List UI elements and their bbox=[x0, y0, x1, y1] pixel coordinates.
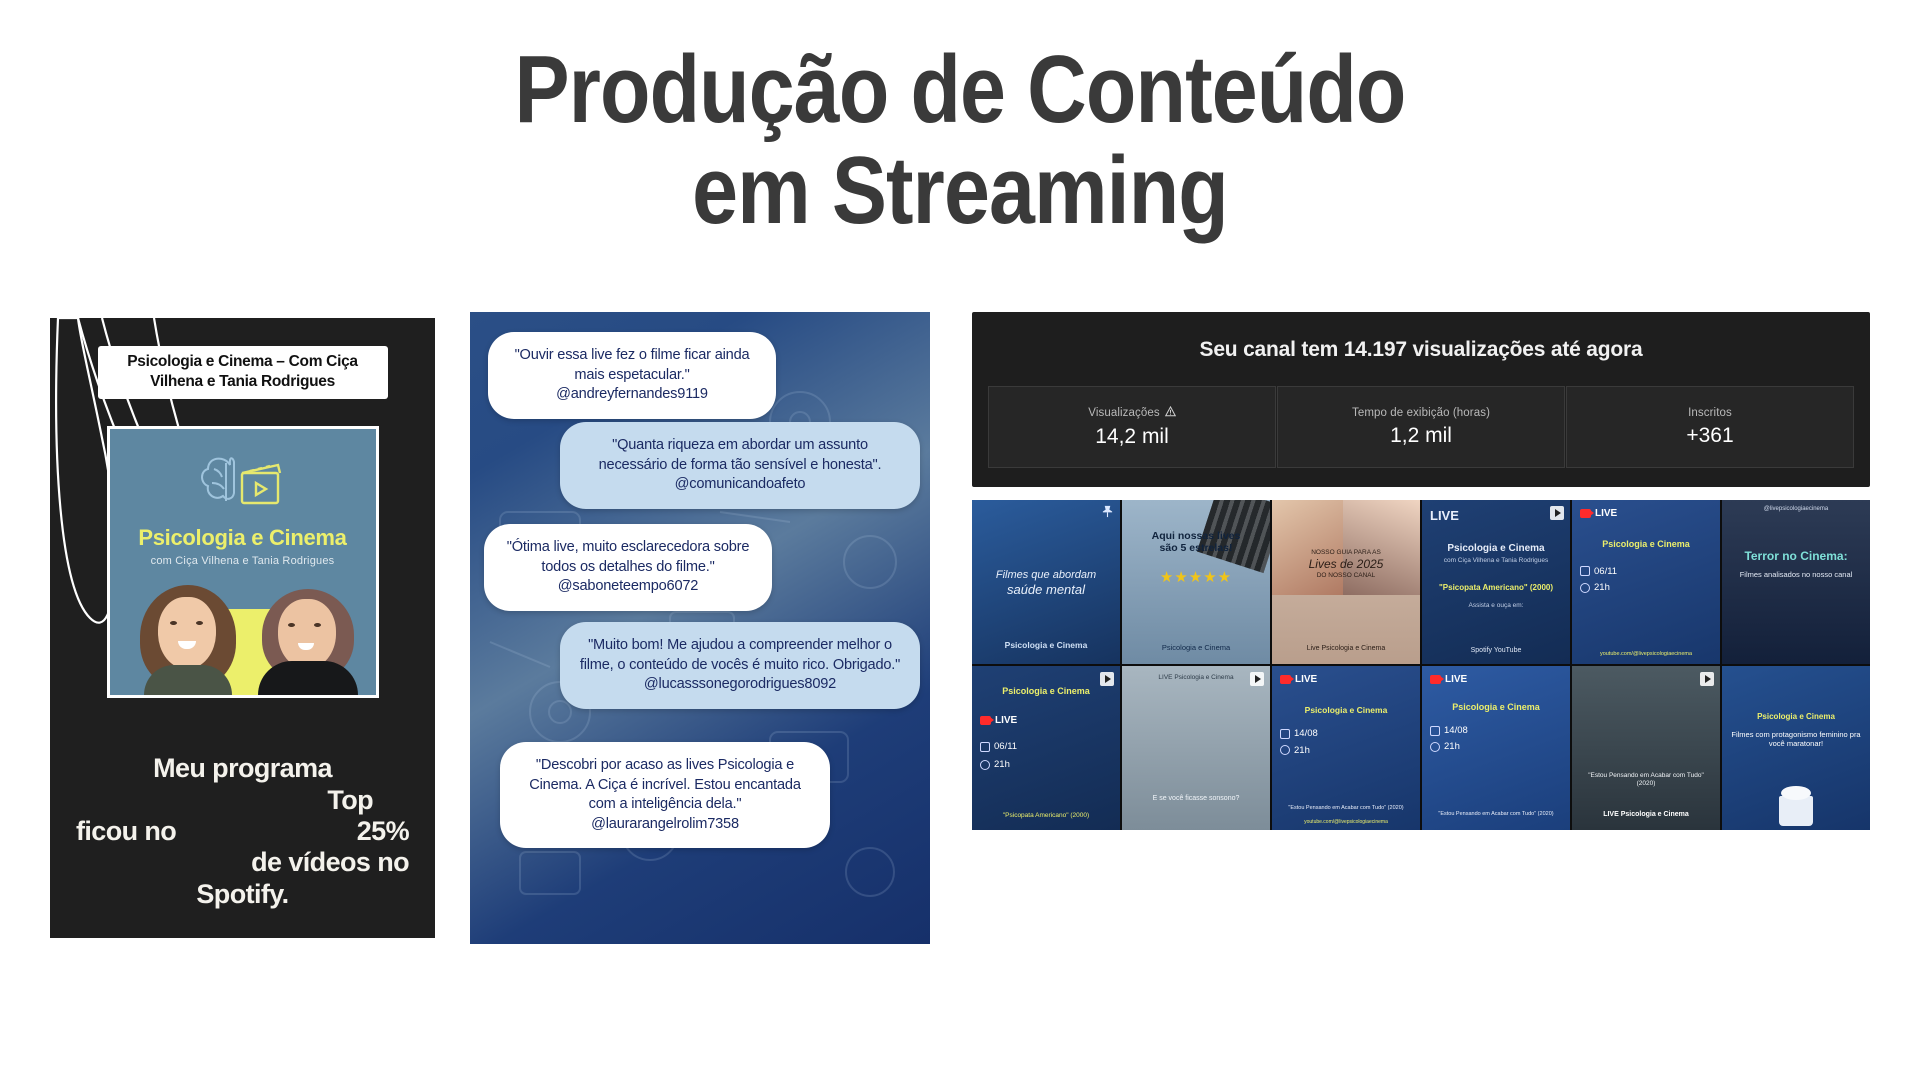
caption-line: Psicologia e Cinema bbox=[1428, 543, 1564, 555]
date-value: 14/08 bbox=[1294, 728, 1318, 739]
play-icon[interactable] bbox=[1550, 506, 1564, 520]
date-chip: 06/11 bbox=[980, 741, 1017, 752]
thumbnail-caption: "Estou Pensando em Acabar com Tudo" (202… bbox=[1578, 772, 1714, 788]
stat-line-3-right: 25% bbox=[357, 816, 409, 847]
thumbnail-caption: LIVE Psicologia e Cinema bbox=[1128, 674, 1264, 682]
stat-tile-subscribers[interactable]: Inscritos +361 bbox=[1566, 386, 1854, 468]
thumbnail-live-label: LIVE bbox=[1430, 508, 1459, 524]
thumbnail-footer: youtube.com/@livepsicologiaecinema bbox=[1278, 819, 1414, 825]
youtube-headline: Seu canal tem 14.197 visualizações até a… bbox=[972, 338, 1870, 362]
time-chip: 21h bbox=[980, 759, 1010, 770]
live-badge: LIVE bbox=[1430, 674, 1467, 685]
live-dot-icon bbox=[1430, 675, 1441, 684]
live-label: LIVE bbox=[1445, 674, 1467, 685]
testimonial-handle: @andreyfernandes9119 bbox=[506, 385, 758, 405]
clock-icon bbox=[1580, 583, 1590, 593]
testimonial-handle: @saboneteempo6072 bbox=[502, 577, 754, 597]
thumbnail-sub: "Estou Pensando em Acabar com Tudo" (202… bbox=[1278, 805, 1414, 812]
title-line-1: Produção de Conteúdo bbox=[134, 40, 1785, 141]
stat-value: 14,2 mil bbox=[1095, 425, 1169, 449]
date-chip: 14/08 bbox=[1430, 725, 1468, 736]
testimonial-bubble: "Descobri por acaso as lives Psicologia … bbox=[500, 742, 830, 848]
stat-value: 1,2 mil bbox=[1390, 424, 1452, 448]
live-label: LIVE bbox=[1295, 674, 1317, 685]
calendar-icon bbox=[980, 742, 990, 752]
video-thumbnail[interactable]: "Estou Pensando em Acabar com Tudo" (202… bbox=[1572, 666, 1720, 830]
stat-label-text: Inscritos bbox=[1688, 407, 1732, 419]
caption-line: Psicologia e Cinema bbox=[1578, 539, 1714, 550]
testimonial-bubble: "Ótima live, muito esclarecedora sobre t… bbox=[484, 524, 772, 611]
caption-line: Psicologia e Cinema bbox=[1728, 712, 1864, 722]
clock-icon bbox=[1280, 745, 1290, 755]
video-thumbnail[interactable]: Filmes que abordam saúde mental Psicolog… bbox=[972, 500, 1120, 664]
testimonial-bubble: "Quanta riqueza em abordar um assunto ne… bbox=[560, 422, 920, 509]
testimonial-quote: "Quanta riqueza em abordar um assunto ne… bbox=[578, 436, 902, 475]
date-chip: 06/11 bbox=[1580, 566, 1617, 577]
stat-line-2: Top bbox=[76, 785, 409, 816]
slide-root: Produção de Conteúdo em Streaming Psicol… bbox=[0, 0, 1920, 1080]
date-value: 14/08 bbox=[1444, 725, 1468, 736]
thumbnail-handle: @livepsicologiaecinema bbox=[1728, 506, 1864, 513]
stat-line-4: de vídeos no bbox=[76, 847, 409, 878]
stat-label: Inscritos bbox=[1688, 407, 1732, 419]
page-title: Produção de Conteúdo em Streaming bbox=[0, 40, 1920, 242]
caption-line: Terror no Cinema: bbox=[1728, 549, 1864, 564]
testimonial-quote: "Ouvir essa live fez o filme ficar ainda… bbox=[506, 346, 758, 385]
video-thumbnail[interactable]: Aqui nossas lives são 5 estrelas! ★★★★★ … bbox=[1122, 500, 1270, 664]
date-value: 06/11 bbox=[994, 741, 1017, 752]
testimonial-handle: @comunicandoafeto bbox=[578, 475, 902, 495]
spotify-header-line-1: Psicologia e Cinema – Com Ciça bbox=[106, 352, 380, 372]
thumbnail-caption: NOSSO GUIA PARA AS Lives de 2025 DO NOSS… bbox=[1278, 549, 1414, 579]
thumbnail-subcaption: E se você ficasse sonsono? bbox=[1128, 795, 1264, 804]
caption-line: Filmes que abordam bbox=[978, 569, 1114, 582]
testimonial-bubble: "Ouvir essa live fez o filme ficar ainda… bbox=[488, 332, 776, 419]
live-dot-icon bbox=[1580, 509, 1591, 518]
time-value: 21h bbox=[1594, 582, 1610, 593]
stat-line-3-left: ficou no bbox=[76, 816, 176, 847]
youtube-stats-card: Seu canal tem 14.197 visualizações até a… bbox=[972, 312, 1870, 487]
play-icon[interactable] bbox=[1100, 672, 1114, 686]
live-dot-icon bbox=[1280, 675, 1291, 684]
host-photo-2 bbox=[256, 587, 360, 695]
title-line-2: em Streaming bbox=[134, 141, 1785, 242]
caption-line: são 5 estrelas! bbox=[1128, 542, 1264, 555]
thumbnail-footer: Spotify YouTube bbox=[1428, 647, 1564, 656]
live-badge: LIVE bbox=[980, 715, 1017, 726]
live-badge: LIVE bbox=[1280, 674, 1317, 685]
cover-title: Psicologia e Cinema bbox=[110, 525, 376, 551]
thumbnail-caption: Psicologia e Cinema Filmes com protagoni… bbox=[1728, 712, 1864, 748]
stat-tile-views[interactable]: Visualizações 14,2 mil bbox=[988, 386, 1276, 468]
live-badge: LIVE bbox=[1580, 508, 1617, 519]
thumbnail-caption: Aqui nossas lives são 5 estrelas! bbox=[1128, 530, 1264, 556]
play-icon[interactable] bbox=[1700, 672, 1714, 686]
thumbnail-caption: Psicologia e Cinema bbox=[978, 686, 1114, 697]
brain-clapperboard-icon bbox=[200, 449, 286, 516]
youtube-analytics-panel: Seu canal tem 14.197 visualizações até a… bbox=[972, 312, 1870, 952]
podcast-cover-art: Psicologia e Cinema com Ciça Vilhena e T… bbox=[107, 426, 379, 698]
testimonials-card: "Ouvir essa live fez o filme ficar ainda… bbox=[470, 312, 930, 944]
calendar-icon bbox=[1580, 566, 1590, 576]
video-thumbnail[interactable]: LIVE Psicologia e Cinema com Ciça Vilhen… bbox=[1422, 500, 1570, 664]
thumbnail-footer: LIVE Psicologia e Cinema bbox=[1578, 811, 1714, 820]
stat-line-5: Spotify. bbox=[76, 879, 409, 910]
cover-subtitle: com Ciça Vilhena e Tania Rodrigues bbox=[110, 555, 376, 567]
caption-line: Psicologia e Cinema bbox=[978, 686, 1114, 697]
caption-line: Lives de 2025 bbox=[1278, 557, 1414, 572]
thumbnail-footer: Live Psicologia e Cinema bbox=[1278, 645, 1414, 654]
stat-label: Visualizações bbox=[1088, 406, 1175, 420]
live-dot-icon bbox=[980, 716, 991, 725]
spotify-card-header: Psicologia e Cinema – Com Ciça Vilhena e… bbox=[98, 346, 388, 399]
thumbnail-sub: "Psicopata Americano" (2000) bbox=[978, 812, 1114, 820]
caption-line: NOSSO GUIA PARA AS bbox=[1278, 549, 1414, 557]
stat-label-text: Visualizações bbox=[1088, 407, 1159, 419]
spotify-wrapped-card: Psicologia e Cinema – Com Ciça Vilhena e… bbox=[50, 318, 435, 938]
date-chip: 14/08 bbox=[1280, 728, 1318, 739]
thumbnail-caption: Terror no Cinema: Filmes analisados no n… bbox=[1728, 549, 1864, 579]
thumbnail-caption: Psicologia e Cinema bbox=[1578, 539, 1714, 550]
stat-label-text: Tempo de exibição (horas) bbox=[1352, 407, 1490, 419]
testimonial-quote: "Ótima live, muito esclarecedora sobre t… bbox=[502, 538, 754, 577]
testimonial-quote: "Descobri por acaso as lives Psicologia … bbox=[518, 756, 812, 815]
time-chip: 21h bbox=[1280, 745, 1310, 756]
youtube-stat-tiles: Visualizações 14,2 mil Tempo de exibição… bbox=[988, 386, 1854, 468]
video-thumbnail[interactable]: Psicologia e Cinema Filmes com protagoni… bbox=[1722, 666, 1870, 830]
spotify-header-line-2: Vilhena e Tania Rodrigues bbox=[106, 372, 380, 392]
stat-value: +361 bbox=[1686, 424, 1733, 448]
testimonial-bubble: "Muito bom! Me ajudou a compreender melh… bbox=[560, 622, 920, 709]
stat-label: Tempo de exibição (horas) bbox=[1352, 407, 1490, 419]
thumbnail-caption: Psicologia e Cinema bbox=[1428, 702, 1564, 713]
caption-line: Filmes com protagonismo feminino pra voc… bbox=[1728, 730, 1864, 748]
time-value: 21h bbox=[994, 759, 1010, 770]
caption-line: saúde mental bbox=[978, 582, 1114, 598]
pin-icon bbox=[1101, 505, 1114, 520]
caption-line: "Psicopata Americano" (2000) bbox=[1428, 583, 1564, 593]
panels-container: Psicologia e Cinema – Com Ciça Vilhena e… bbox=[0, 312, 1920, 952]
video-thumbnail[interactable]: LIVE Psicologia e Cinema 14/08 21h "Esto… bbox=[1272, 666, 1420, 830]
live-label: LIVE bbox=[1595, 508, 1617, 519]
calendar-icon bbox=[1280, 729, 1290, 739]
caption-line: Aqui nossas lives bbox=[1128, 530, 1264, 543]
video-thumbnail[interactable]: LIVE Psicologia e Cinema 14/08 21h "Esto… bbox=[1422, 666, 1570, 830]
stat-line-1: Meu programa bbox=[76, 753, 409, 784]
stat-line-3: ficou no 25% bbox=[76, 816, 409, 847]
rating-stars: ★★★★★ bbox=[1128, 569, 1264, 587]
time-chip: 21h bbox=[1580, 582, 1610, 593]
thumbnail-footer: youtube.com/@livepsicologiaecinema bbox=[1578, 651, 1714, 658]
video-thumbnail[interactable]: LIVE Psicologia e Cinema E se você ficas… bbox=[1122, 666, 1270, 830]
clock-icon bbox=[980, 760, 990, 770]
testimonial-handle: @lucasssonegorodrigues8092 bbox=[578, 675, 902, 695]
video-thumbnail[interactable]: Psicologia e Cinema LIVE 06/11 21h "Ps bbox=[972, 666, 1120, 830]
thumbnail-caption: Psicologia e Cinema bbox=[1278, 705, 1414, 715]
thumbnail-caption: Psicologia e Cinema com Ciça Vilhena e T… bbox=[1428, 543, 1564, 611]
time-chip: 21h bbox=[1430, 741, 1460, 752]
caption-line: Filmes analisados no nosso canal bbox=[1728, 570, 1864, 579]
time-value: 21h bbox=[1444, 741, 1460, 752]
caption-line: DO NOSSO CANAL bbox=[1278, 572, 1414, 580]
caption-line: com Ciça Vilhena e Tania Rodrigues bbox=[1428, 557, 1564, 565]
clock-icon bbox=[1430, 742, 1440, 752]
thumbnail-caption: Filmes que abordam saúde mental bbox=[978, 569, 1114, 598]
time-value: 21h bbox=[1294, 745, 1310, 756]
thumbnail-footer: Psicologia e Cinema bbox=[1128, 643, 1264, 652]
video-thumbnail[interactable]: LIVE Psicologia e Cinema 06/11 21h youtu… bbox=[1572, 500, 1720, 664]
thumbnail-footer: Psicologia e Cinema bbox=[978, 640, 1114, 650]
calendar-icon bbox=[1430, 726, 1440, 736]
spotify-stat-text: Meu programa Top ficou no 25% de vídeos … bbox=[50, 753, 435, 910]
video-thumbnail[interactable]: NOSSO GUIA PARA AS Lives de 2025 DO NOSS… bbox=[1272, 500, 1420, 664]
thumbnail-sub: "Estou Pensando em Acabar com Tudo" (202… bbox=[1428, 811, 1564, 818]
caption-line: Assista e ouça em: bbox=[1428, 602, 1564, 610]
date-value: 06/11 bbox=[1594, 566, 1617, 577]
stat-tile-watchtime[interactable]: Tempo de exibição (horas) 1,2 mil bbox=[1277, 386, 1565, 468]
host-photo-1 bbox=[136, 583, 240, 695]
warning-triangle-icon[interactable] bbox=[1165, 406, 1176, 420]
testimonial-quote: "Muito bom! Me ajudou a compreender melh… bbox=[578, 636, 902, 675]
live-label: LIVE bbox=[995, 715, 1017, 726]
video-thumbnail[interactable]: @livepsicologiaecinema Terror no Cinema:… bbox=[1722, 500, 1870, 664]
video-thumbnail-grid: Filmes que abordam saúde mental Psicolog… bbox=[972, 500, 1870, 830]
testimonial-handle: @laurarangelrolim7358 bbox=[518, 815, 812, 835]
